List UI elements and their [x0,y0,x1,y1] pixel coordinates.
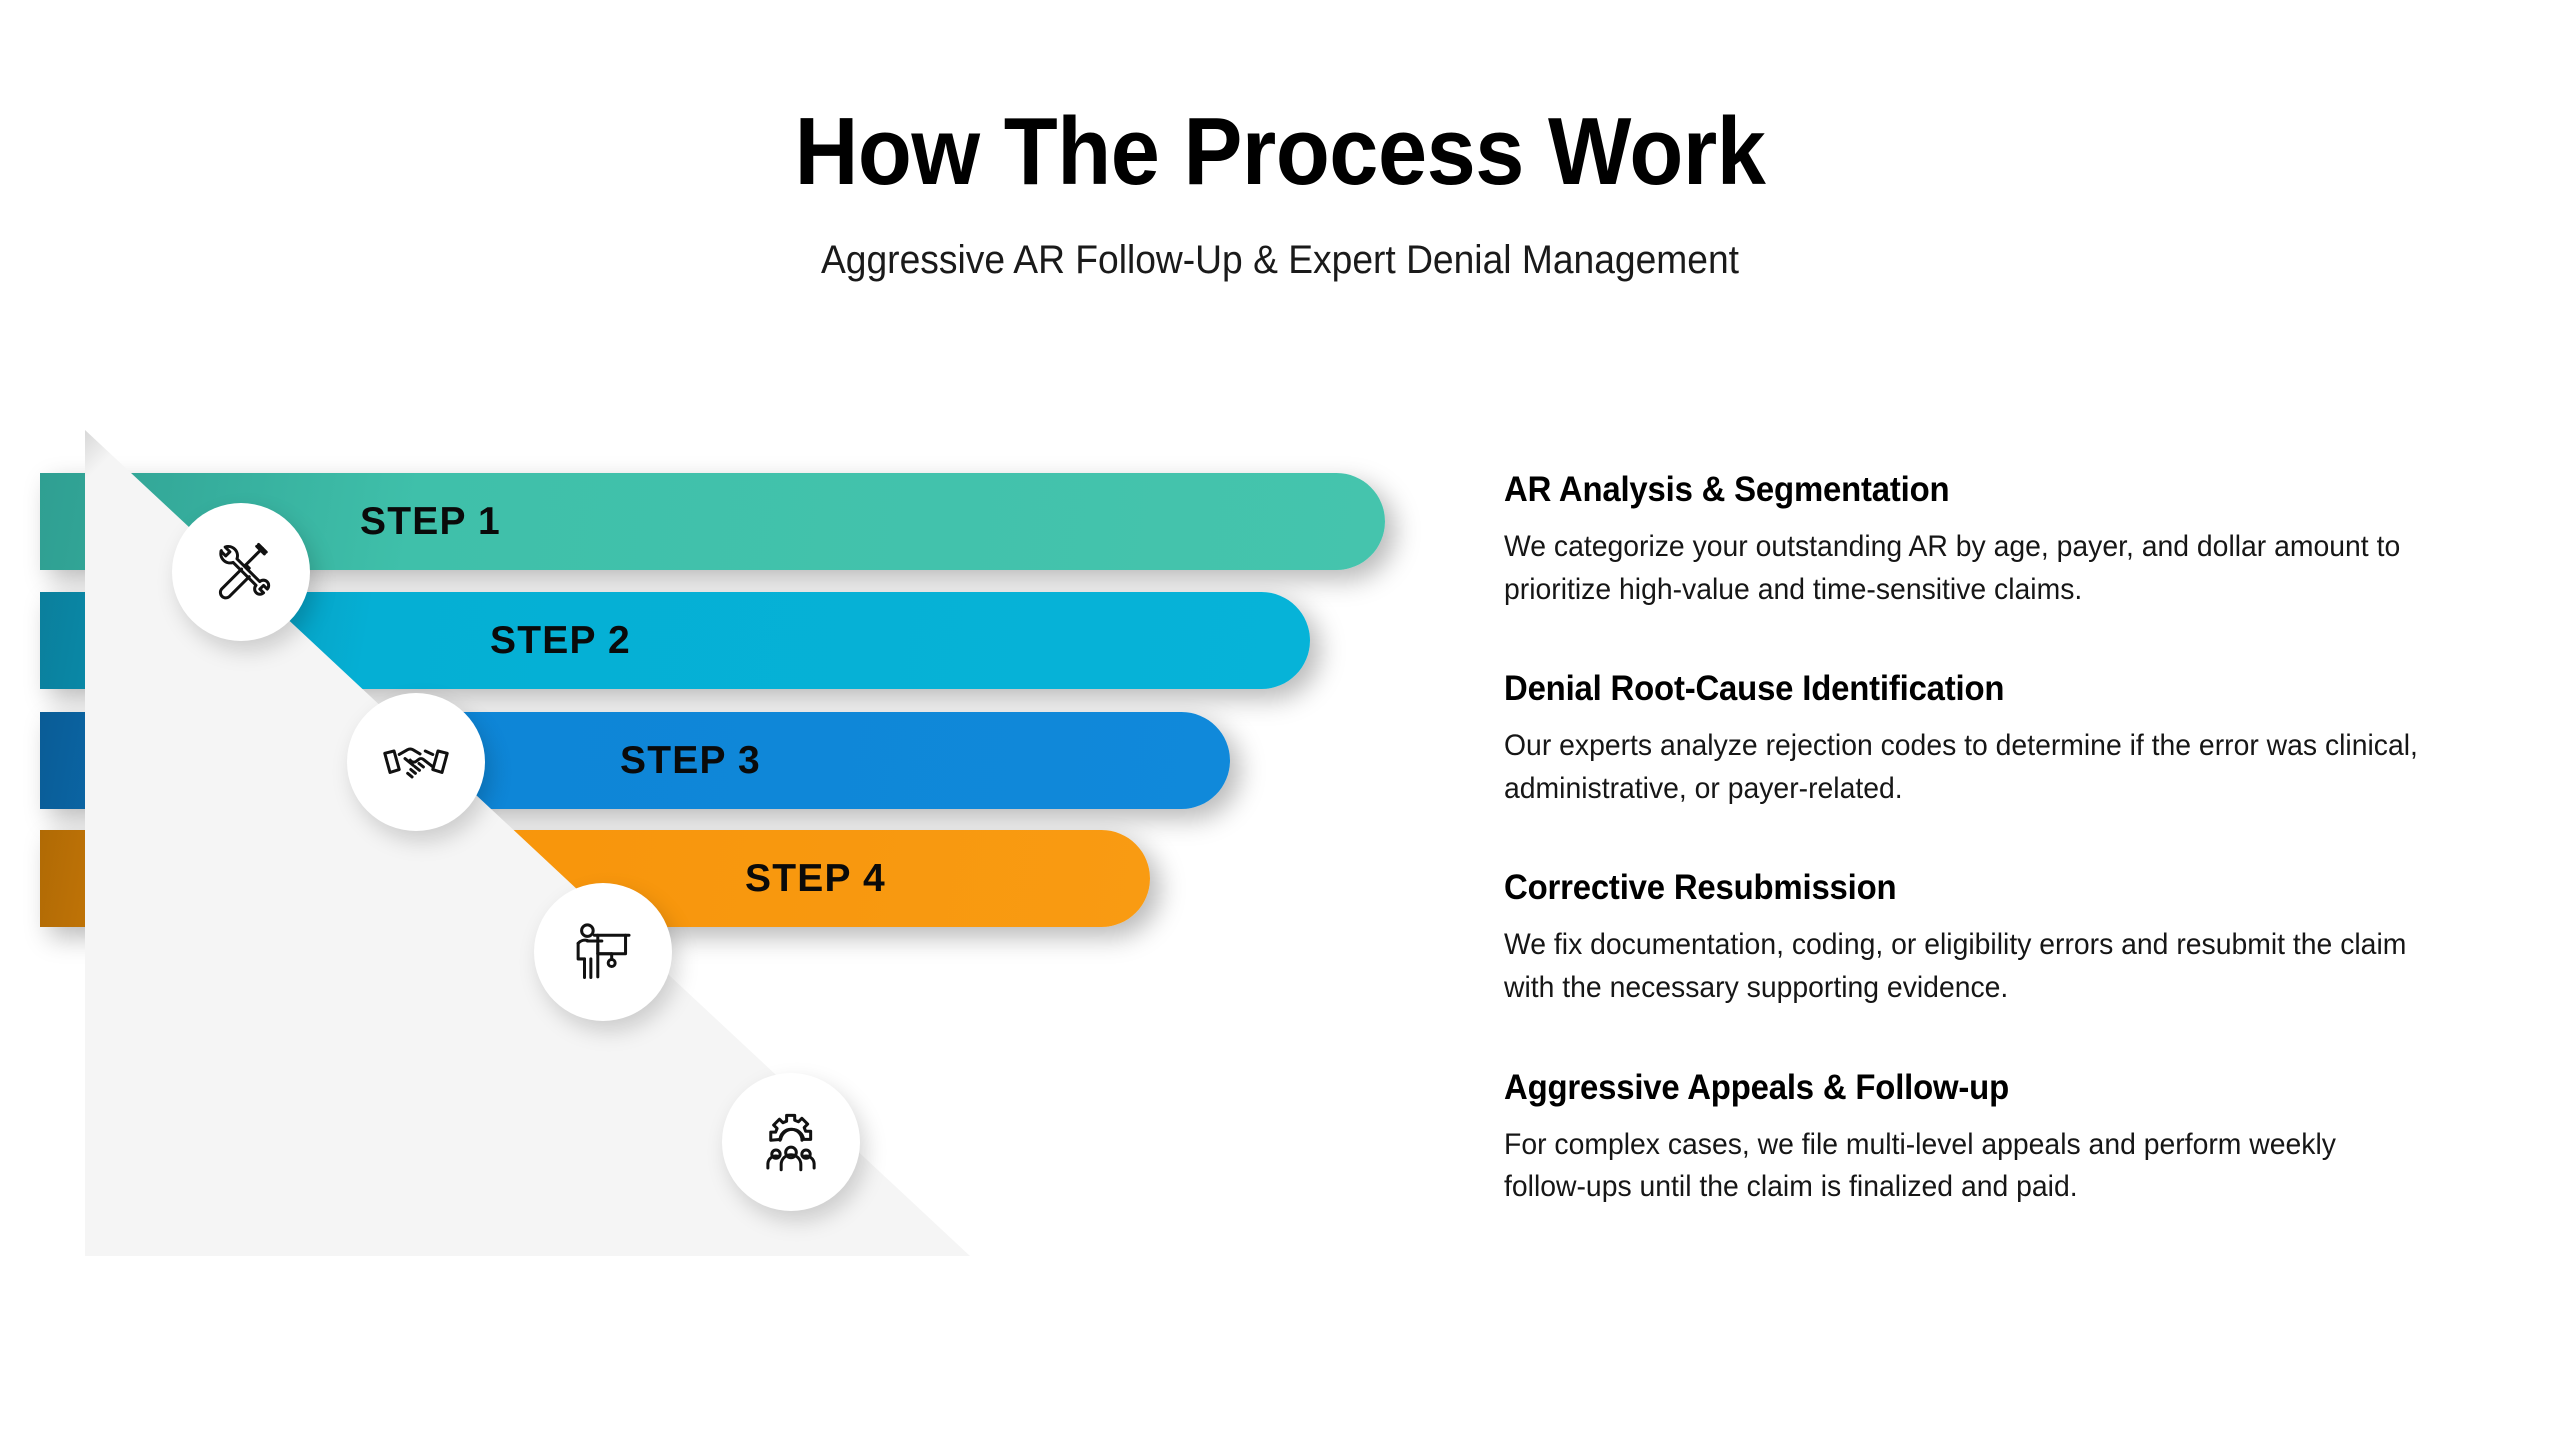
tools-icon [204,535,278,609]
step-detail-1: AR Analysis & Segmentation We categorize… [1504,470,2504,611]
presenter-board-icon [566,915,640,989]
handshake-icon [379,725,453,799]
step-detail-4-body: For complex cases, we file multi-level a… [1504,1124,2425,1209]
step-detail-2-body: Our experts analyze rejection codes to d… [1504,725,2425,810]
step-detail-2-title: Denial Root-Cause Identification [1504,669,2444,709]
gear-people-icon [754,1105,828,1179]
step-bar-4-label: STEP 4 [745,857,886,901]
step-bar-1-label: STEP 1 [360,500,501,544]
step-detail-4: Aggressive Appeals & Follow-up For compl… [1504,1068,2504,1209]
step-bar-2-label: STEP 2 [490,619,631,663]
step-icon-badge-1[interactable] [172,503,310,641]
step-icon-badge-3[interactable] [534,883,672,1021]
step-detail-3: Corrective Resubmission We fix documenta… [1504,868,2504,1009]
step-details-column: AR Analysis & Segmentation We categorize… [1504,470,2504,1209]
step-detail-1-title: AR Analysis & Segmentation [1504,470,2444,510]
step-detail-1-body: We categorize your outstanding AR by age… [1504,526,2425,611]
process-funnel-diagram: STEP 1 STEP 2 STEP 3 STEP 4 [0,0,1460,1440]
step-bar-3-label: STEP 3 [620,739,761,783]
step-icon-badge-4[interactable] [722,1073,860,1211]
step-detail-3-title: Corrective Resubmission [1504,868,2444,908]
step-detail-2: Denial Root-Cause Identification Our exp… [1504,669,2504,810]
step-icon-badge-2[interactable] [347,693,485,831]
step-detail-4-title: Aggressive Appeals & Follow-up [1504,1068,2444,1108]
step-detail-3-body: We fix documentation, coding, or eligibi… [1504,924,2425,1009]
